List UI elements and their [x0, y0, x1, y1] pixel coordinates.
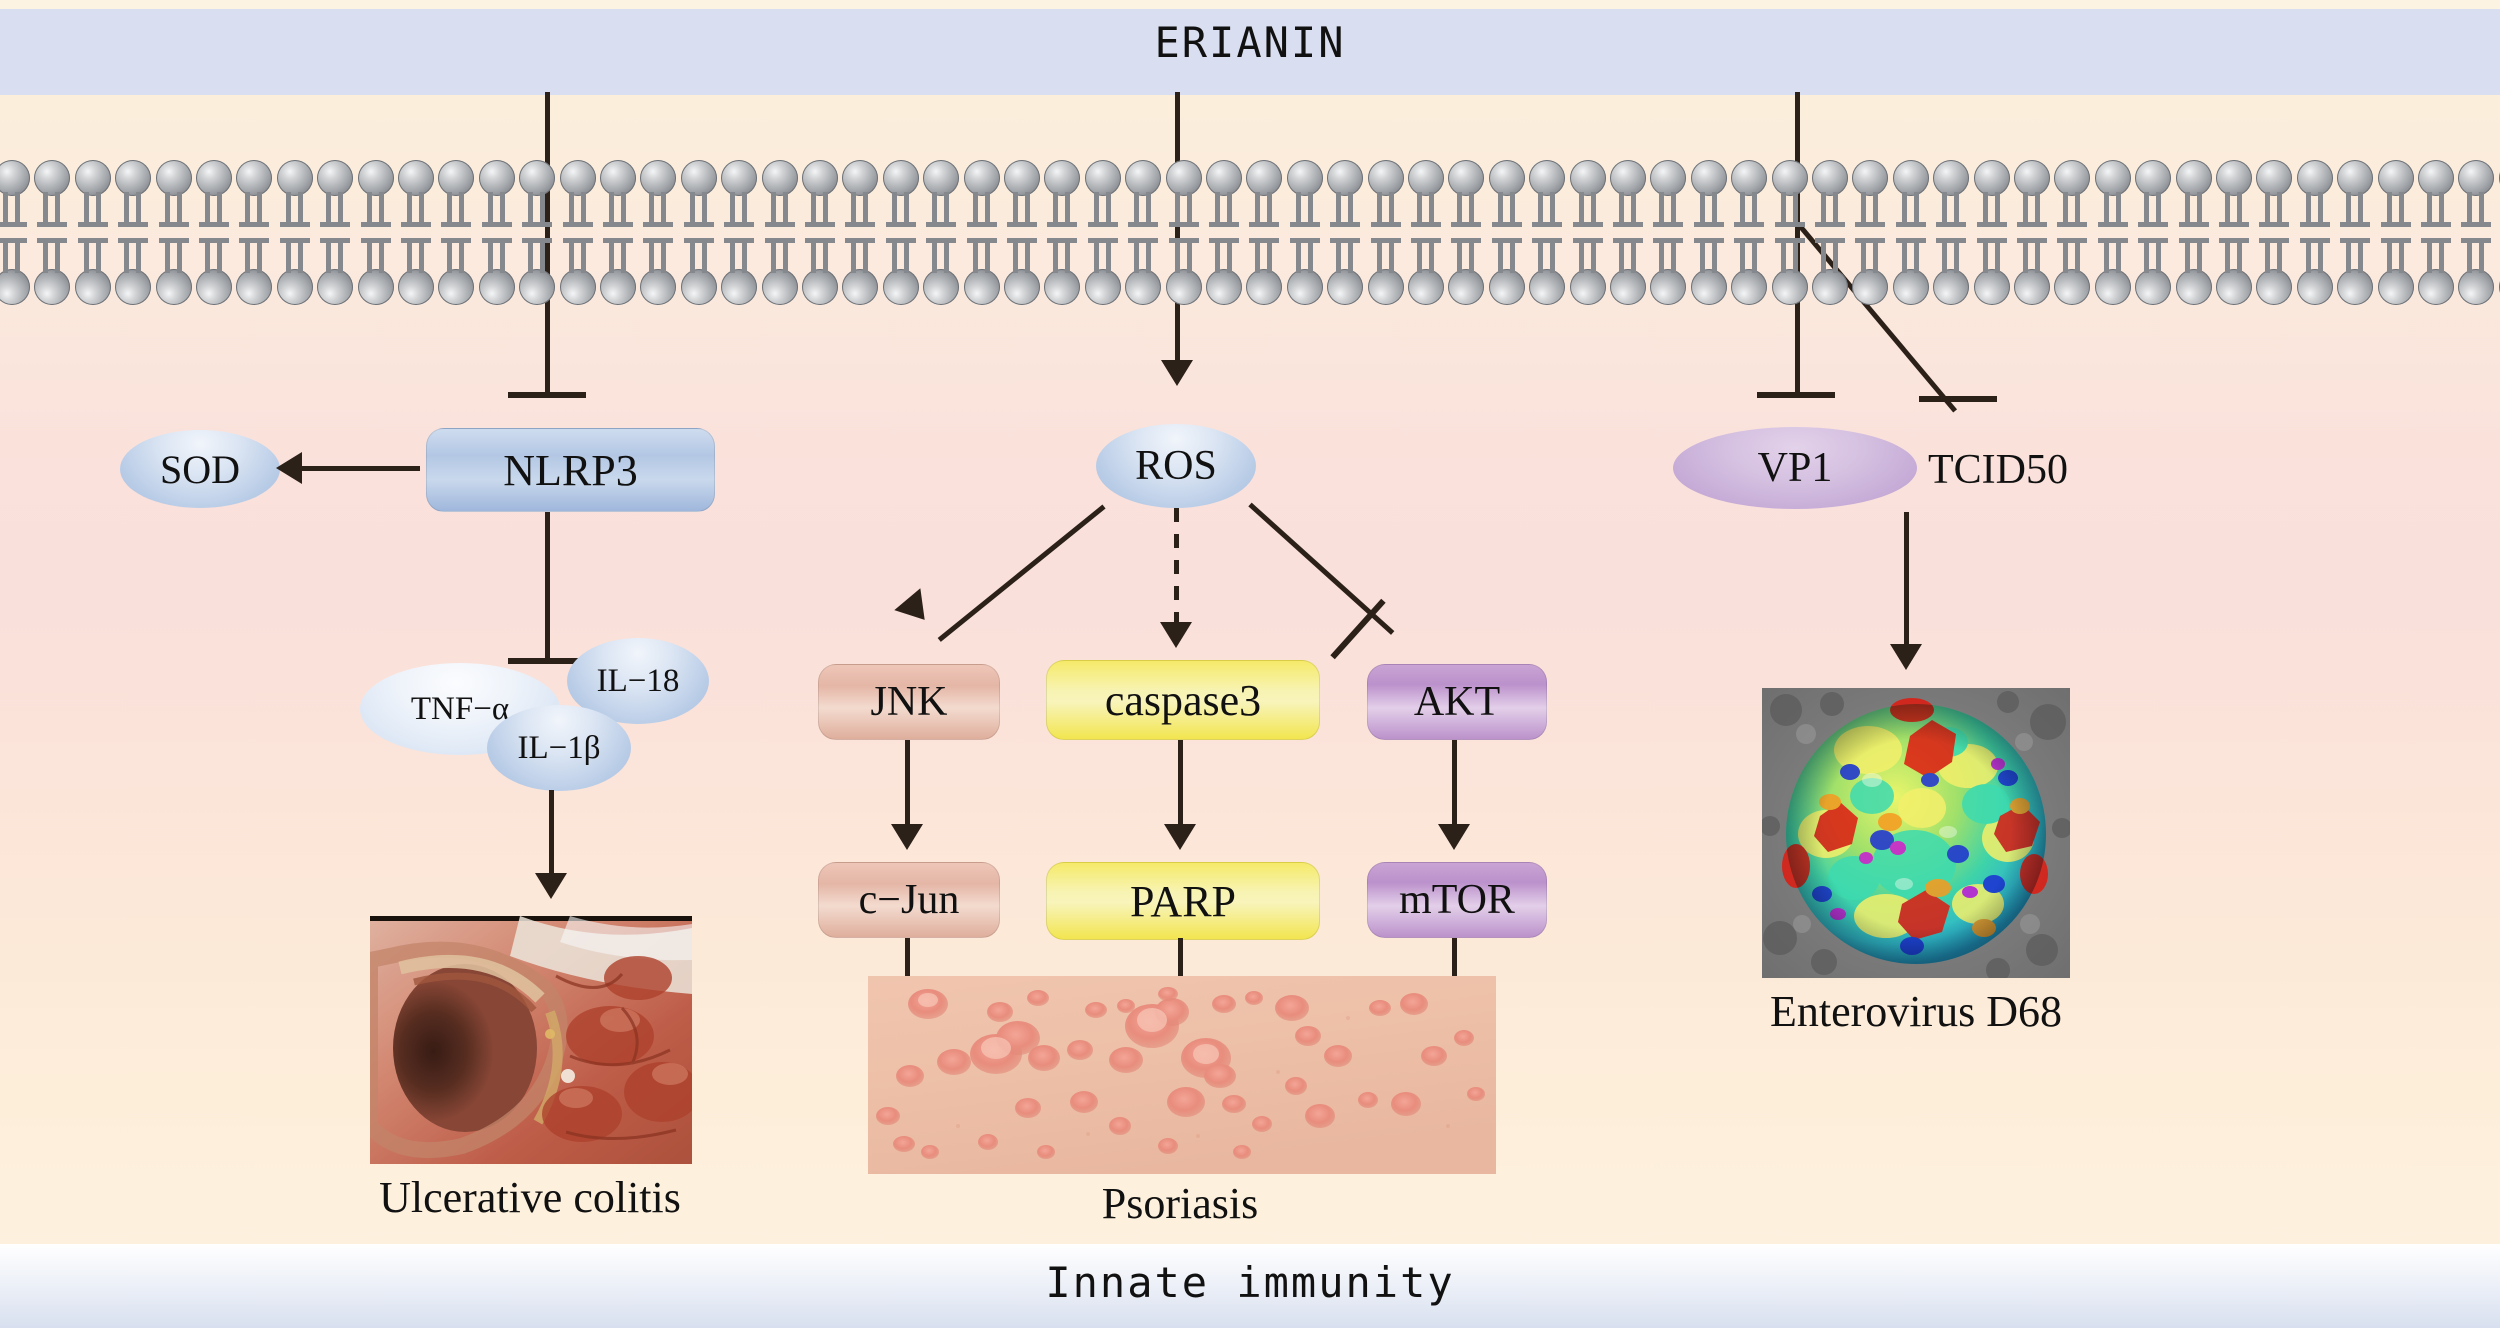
node-akt-label: AKT: [1414, 678, 1500, 726]
edge-parp-psoriasis: [1178, 938, 1183, 978]
figure-title: ERIANIN: [0, 18, 2500, 67]
image-psoriasis: [868, 976, 1496, 1174]
node-cjun[interactable]: c−Jun: [818, 862, 1000, 938]
node-jnk-label: JNK: [870, 678, 947, 726]
node-mtor-label: mTOR: [1399, 876, 1515, 924]
node-tnf-alpha-label: TNF−α: [411, 691, 509, 728]
edge-erianin-vp1-tbar: [1757, 392, 1835, 398]
node-ros-label: ROS: [1135, 442, 1217, 490]
image-enterovirus-d68: [1762, 688, 2070, 978]
node-ros[interactable]: ROS: [1096, 424, 1256, 508]
image-ulcerative-colitis: [370, 916, 692, 1164]
caption-psoriasis: Psoriasis: [940, 1178, 1420, 1229]
node-vp1[interactable]: VP1: [1673, 427, 1917, 509]
edge-nlrp3-cytokines-stem: [545, 512, 550, 664]
node-jnk[interactable]: JNK: [818, 664, 1000, 740]
edge-cjun-psoriasis: [905, 938, 910, 978]
node-nlrp3[interactable]: NLRP3: [426, 428, 715, 512]
node-caspase3-label: caspase3: [1105, 675, 1261, 726]
node-cjun-label: c−Jun: [859, 876, 960, 924]
bilayer-inner-leaflet: [0, 233, 2500, 305]
edge-akt-mtor-arrow: [1438, 824, 1470, 850]
edge-il1b-colitis-arrow: [535, 873, 567, 899]
node-il1b-label: IL−1β: [517, 730, 600, 767]
lipid-bilayer: [0, 160, 2500, 305]
node-sod[interactable]: SOD: [120, 430, 280, 508]
edge-jnk-cjun-arrow: [891, 824, 923, 850]
node-il18-label: IL−18: [597, 663, 680, 700]
edge-ros-caspase3-arrow: [1160, 622, 1192, 648]
node-caspase3[interactable]: caspase3: [1046, 660, 1320, 740]
bilayer-outer-leaflet: [0, 160, 2500, 232]
edge-caspase3-parp-arrow: [1164, 824, 1196, 850]
node-akt[interactable]: AKT: [1367, 664, 1547, 740]
caption-enterovirus-d68: Enterovirus D68: [1676, 986, 2156, 1037]
node-vp1-label: VP1: [1758, 444, 1833, 492]
edge-nlrp3-sod-arrow: [276, 452, 302, 484]
node-parp[interactable]: PARP: [1046, 862, 1320, 940]
edge-vp1-ev68-stem: [1904, 512, 1909, 660]
figure-footer-title: Innate immunity: [0, 1258, 2500, 1307]
node-il1b[interactable]: IL−1β: [487, 705, 631, 791]
node-nlrp3-label: NLRP3: [503, 445, 637, 496]
edge-erianin-tcid50-tbar: [1919, 396, 1997, 402]
node-mtor[interactable]: mTOR: [1367, 862, 1547, 938]
edge-erianin-ros-arrow: [1161, 360, 1193, 386]
edge-erianin-nlrp3-tbar: [508, 392, 586, 398]
caption-ulcerative-colitis: Ulcerative colitis: [290, 1172, 770, 1223]
node-tcid50[interactable]: TCID50: [1928, 446, 2068, 494]
node-parp-label: PARP: [1130, 876, 1236, 927]
edge-nlrp3-sod-line: [300, 466, 420, 471]
node-sod-label: SOD: [160, 446, 240, 493]
pathway-figure: ERIANIN SOD NLRP3 TNF−α IL−18 IL−1β: [0, 0, 2500, 1328]
edge-ros-caspase3-line: [1174, 508, 1179, 628]
edge-vp1-ev68-arrow: [1890, 644, 1922, 670]
edge-mtor-psoriasis: [1452, 938, 1457, 978]
